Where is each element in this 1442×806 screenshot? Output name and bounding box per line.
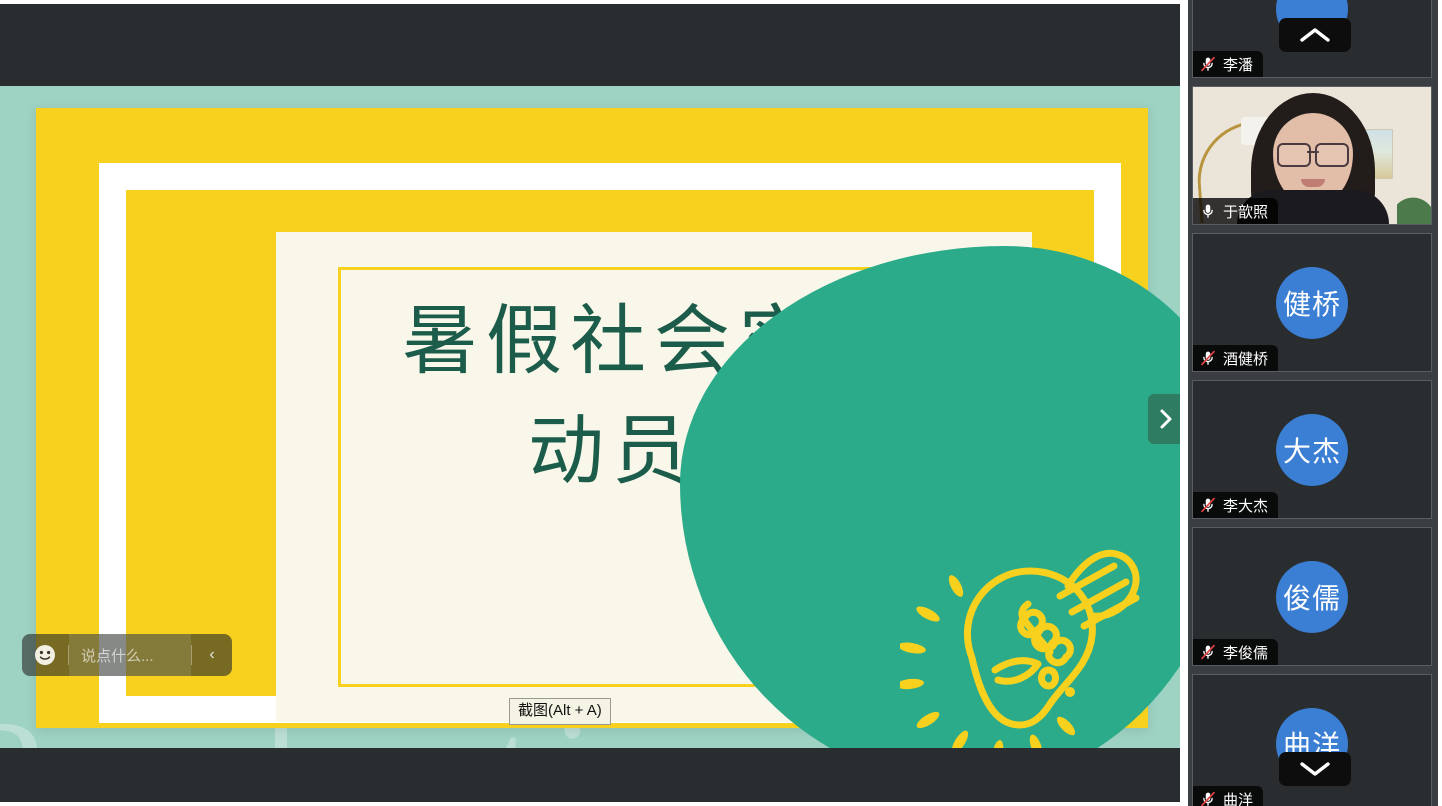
- emoji-picker-button[interactable]: [22, 643, 68, 667]
- participant-tile[interactable]: 曲洋 曲洋: [1192, 674, 1432, 806]
- microphone-icon: [1199, 202, 1217, 220]
- participant-name: 酒健桥: [1223, 348, 1268, 369]
- participant-name: 曲洋: [1223, 789, 1253, 806]
- participant-tile[interactable]: 俊儒 李俊儒: [1192, 527, 1432, 666]
- participant-name-label: 李俊儒: [1193, 639, 1278, 665]
- avatar: 俊儒: [1276, 561, 1348, 633]
- participant-name: 李潘: [1223, 54, 1253, 75]
- chevron-down-icon: [1298, 760, 1332, 778]
- avatar: 健桥: [1276, 267, 1348, 339]
- filmstrip-scroll-up-button[interactable]: [1279, 18, 1351, 52]
- stage-letterbox-top: [0, 4, 1180, 86]
- screenshot-tooltip: 截图(Alt + A): [509, 698, 611, 725]
- participant-name-label: 曲洋: [1193, 786, 1263, 806]
- tile-divider: [1188, 372, 1442, 380]
- glasses-left-lens: [1277, 143, 1311, 167]
- window-right-edge: [1438, 0, 1442, 806]
- microphone-muted-icon: [1199, 55, 1217, 73]
- avatar: 大杰: [1276, 414, 1348, 486]
- window-top-edge: [0, 0, 1180, 4]
- chat-composer[interactable]: 说点什么... ‹: [22, 634, 232, 676]
- microphone-muted-icon: [1199, 349, 1217, 367]
- participant-name-label: 于歆照: [1193, 198, 1278, 224]
- tile-divider: [1188, 225, 1442, 233]
- participant-name-label: 李大杰: [1193, 492, 1278, 518]
- stage-letterbox-bottom: [0, 748, 1180, 802]
- video-person-glasses: [1277, 143, 1349, 163]
- participant-tile[interactable]: 健桥 酒健桥: [1192, 233, 1432, 372]
- glasses-right-lens: [1315, 143, 1349, 167]
- tile-divider: [1188, 519, 1442, 527]
- microphone-muted-icon: [1199, 643, 1217, 661]
- video-conference-window: Production Plan 暑假社会实践 动员会: [0, 0, 1442, 806]
- chevron-up-icon: [1298, 26, 1332, 44]
- microphone-muted-icon: [1199, 496, 1217, 514]
- tile-divider: [1188, 666, 1442, 674]
- participant-name: 李大杰: [1223, 495, 1268, 516]
- participant-name-label: 李潘: [1193, 51, 1263, 77]
- filmstrip-scroll-down-button[interactable]: [1279, 752, 1351, 786]
- window-bottom-edge: [0, 802, 1180, 806]
- participant-name: 于歆照: [1223, 201, 1268, 222]
- participant-filmstrip[interactable]: 李潘: [1188, 0, 1442, 806]
- chevron-right-icon: [1158, 408, 1174, 430]
- composer-collapse-button[interactable]: ‹: [192, 646, 232, 664]
- participant-tile[interactable]: 大杰 李大杰: [1192, 380, 1432, 519]
- lightbulb-illustration: [900, 508, 1170, 748]
- chat-input[interactable]: 说点什么...: [69, 634, 191, 676]
- shared-screen-stage: Production Plan 暑假社会实践 动员会: [0, 0, 1180, 806]
- participant-tile[interactable]: 于歆照: [1192, 86, 1432, 225]
- video-plant: [1397, 178, 1431, 224]
- participant-name-label: 酒健桥: [1193, 345, 1278, 371]
- participant-name: 李俊儒: [1223, 642, 1268, 663]
- next-slide-button[interactable]: [1148, 394, 1180, 444]
- tile-divider: [1188, 78, 1442, 86]
- microphone-muted-icon: [1199, 790, 1217, 806]
- smiley-face-icon: [33, 643, 57, 667]
